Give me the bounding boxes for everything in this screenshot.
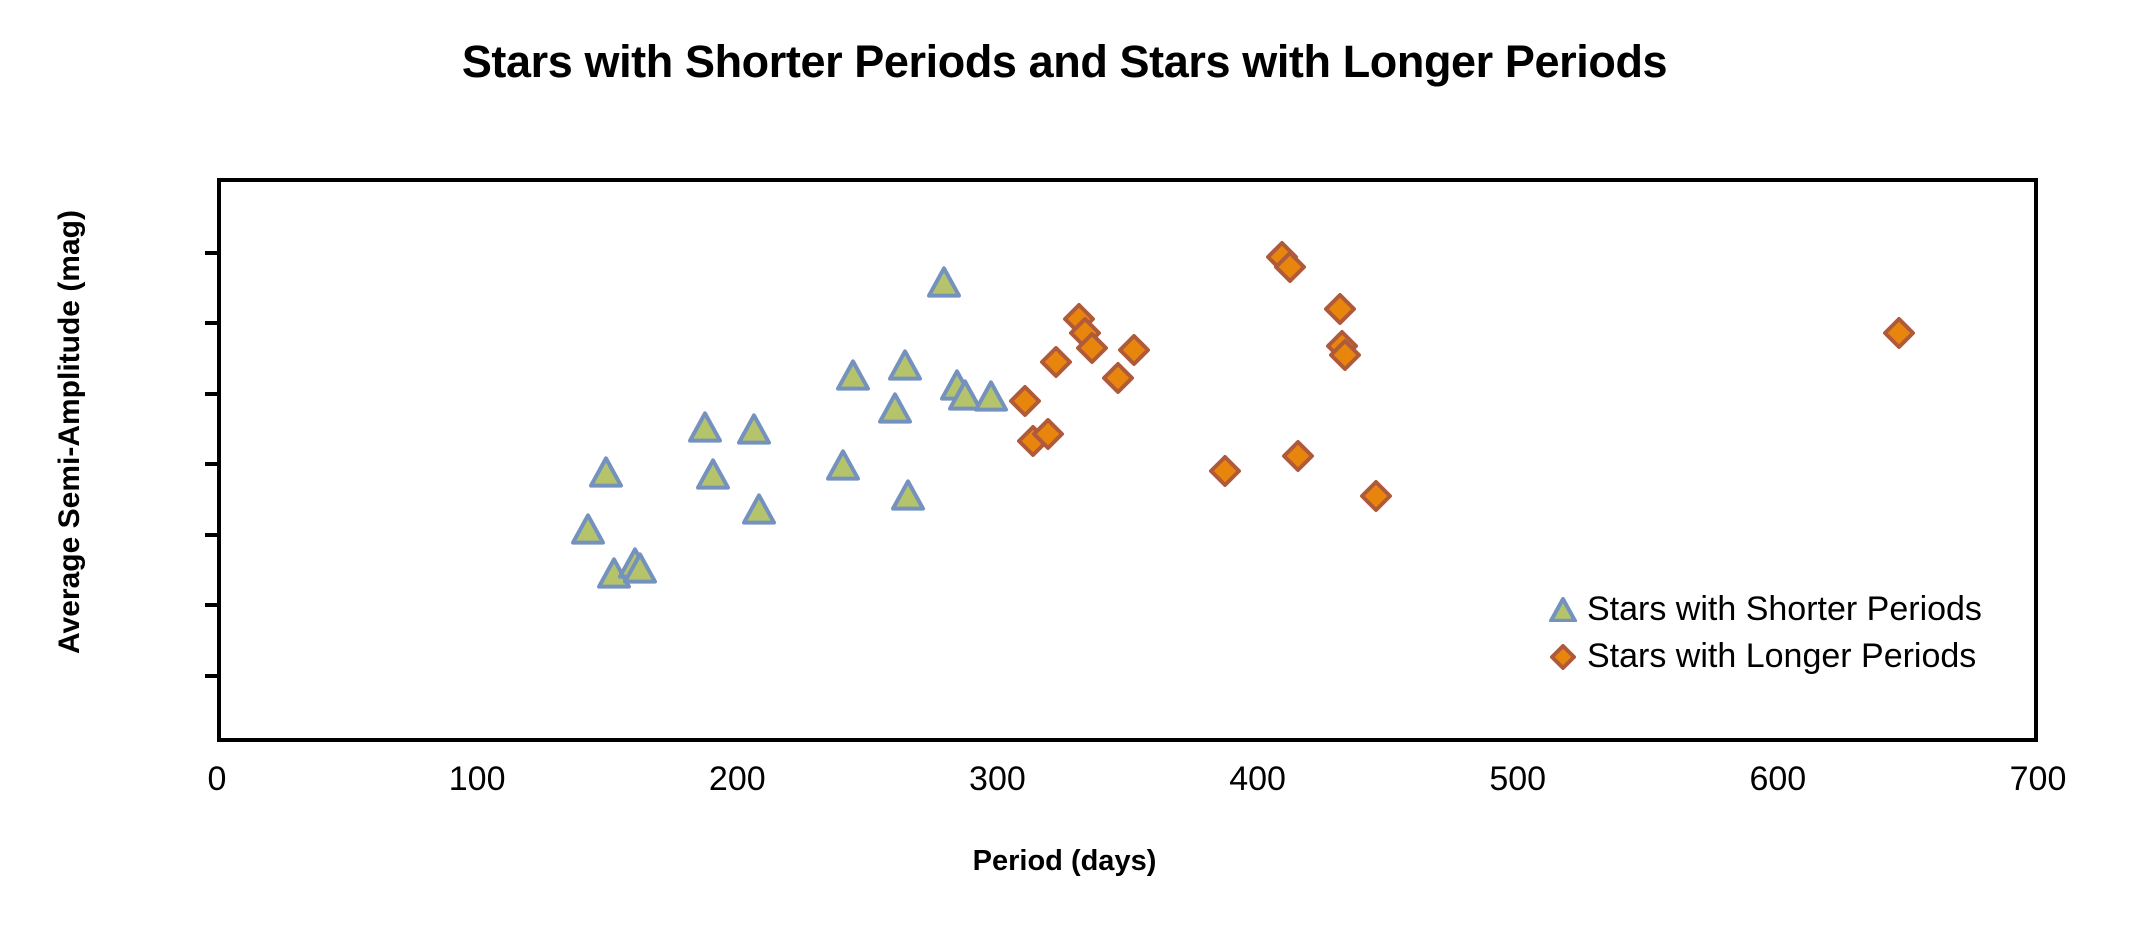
data-point-diamond — [1324, 293, 1356, 325]
data-point-triangle — [878, 392, 912, 423]
data-point-diamond — [1032, 418, 1064, 450]
data-point-triangle — [927, 266, 961, 297]
data-point-diamond — [1076, 332, 1108, 364]
data-point-triangle — [688, 412, 722, 443]
x-tick-label: 200 — [657, 760, 817, 799]
legend-item-label: Stars with Longer Periods — [1587, 637, 1976, 676]
data-point-diamond — [1282, 440, 1314, 472]
x-tick-label: 0 — [137, 760, 297, 799]
data-point-triangle — [836, 360, 870, 391]
data-point-triangle — [826, 450, 860, 481]
data-point-diamond — [1102, 362, 1134, 394]
x-tick-label: 700 — [1958, 760, 2118, 799]
y-tick-mark — [205, 251, 221, 255]
triangle-marker-icon — [1545, 592, 1581, 628]
data-point-diamond — [1118, 334, 1150, 366]
data-point-diamond — [1883, 317, 1915, 349]
data-point-triangle — [571, 513, 605, 544]
chart-legend: Stars with Shorter PeriodsStars with Lon… — [1545, 586, 1982, 680]
y-tick-mark — [205, 321, 221, 325]
y-tick-mark — [205, 533, 221, 537]
data-point-triangle — [589, 457, 623, 488]
data-point-diamond — [1040, 346, 1072, 378]
scatter-chart-figure: Stars with Shorter Periods and Stars wit… — [0, 0, 2129, 941]
data-point-triangle — [891, 479, 925, 510]
data-point-diamond — [1009, 385, 1041, 417]
data-point-triangle — [888, 350, 922, 381]
x-tick-label: 300 — [917, 760, 1077, 799]
data-point-triangle — [696, 458, 730, 489]
x-tick-label: 400 — [1178, 760, 1338, 799]
data-point-triangle — [623, 553, 657, 584]
data-point-triangle — [742, 493, 776, 524]
y-tick-mark — [205, 603, 221, 607]
x-tick-label: 600 — [1698, 760, 1858, 799]
legend-item-label: Stars with Shorter Periods — [1587, 590, 1982, 629]
data-point-diamond — [1274, 251, 1306, 283]
data-point-diamond — [1209, 455, 1241, 487]
data-point-diamond — [1360, 480, 1392, 512]
y-tick-mark — [205, 674, 221, 678]
y-axis-title: Average Semi-Amplitude (mag) — [53, 172, 87, 692]
x-tick-label: 100 — [397, 760, 557, 799]
y-tick-mark — [205, 392, 221, 396]
legend-item[interactable]: Stars with Shorter Periods — [1545, 586, 1982, 633]
data-point-diamond — [1329, 339, 1361, 371]
data-point-triangle — [737, 413, 771, 444]
legend-item[interactable]: Stars with Longer Periods — [1545, 633, 1982, 680]
y-tick-mark — [205, 462, 221, 466]
chart-title: Stars with Shorter Periods and Stars wit… — [0, 36, 2129, 88]
diamond-marker-icon — [1545, 639, 1581, 675]
x-tick-label: 500 — [1438, 760, 1598, 799]
data-point-triangle — [974, 381, 1008, 412]
x-axis-title: Period (days) — [0, 845, 2129, 878]
